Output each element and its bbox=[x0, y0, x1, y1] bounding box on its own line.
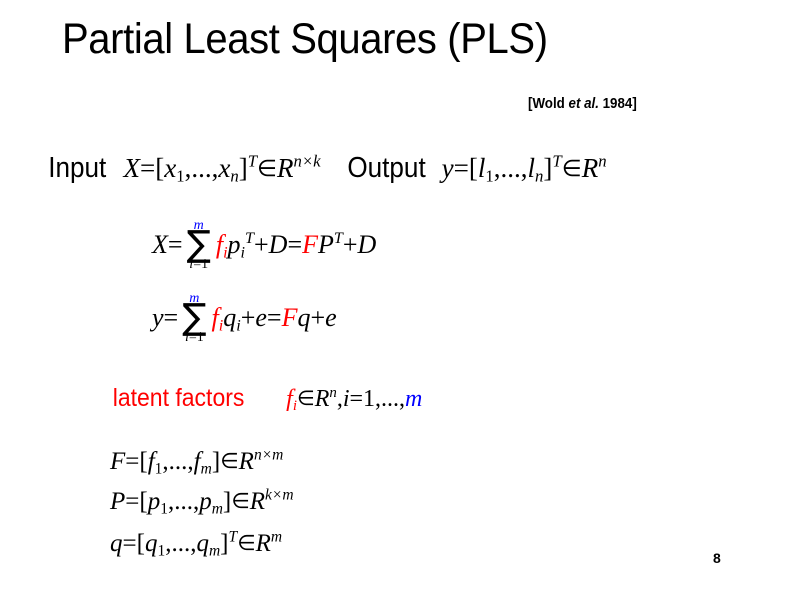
sumy-term-f: f bbox=[211, 303, 218, 332]
output-ellipsis: ..., bbox=[501, 153, 528, 183]
defF-var-1: f bbox=[148, 448, 155, 475]
summation-group: m ∑ i=1 bbox=[187, 219, 211, 272]
sumx-equals-2: = bbox=[287, 230, 302, 259]
defq-var-1: q bbox=[145, 530, 158, 557]
element-of-icon: ∈ bbox=[231, 489, 250, 514]
citation-year: 1984 bbox=[599, 96, 632, 112]
input-ellipsis: ..., bbox=[191, 153, 218, 183]
sumx-term-P-sup: T bbox=[334, 230, 343, 247]
input-transpose: T bbox=[248, 152, 257, 171]
sumy-term-F: F bbox=[282, 303, 298, 332]
input-output-row: Input X=[x1,...,xn]T∈Rn×k Output y=[l1,.… bbox=[45, 152, 607, 185]
latent-factors-row: latent factors fi∈Rn,i=1,...,m bbox=[107, 384, 422, 413]
citation-author: Wold bbox=[532, 96, 568, 112]
defP-space-dims: k×m bbox=[265, 486, 294, 503]
input-space-dims: n×k bbox=[294, 152, 321, 171]
defF-var-m: f bbox=[194, 448, 201, 475]
input-var-n-sub: n bbox=[230, 167, 238, 186]
page-number: 8 bbox=[713, 550, 721, 566]
input-equals: = bbox=[140, 153, 155, 183]
output-equation: y=[l1,...,ln]T∈Rn bbox=[442, 153, 607, 184]
sumy-lower-value: 1 bbox=[197, 330, 204, 345]
slide-canvas: Partial Least Squares (PLS) [Wold et al.… bbox=[0, 0, 800, 599]
defq-var-m: q bbox=[196, 530, 209, 557]
sumx-lower-limit: i=1 bbox=[189, 258, 208, 272]
definition-equation-P: P=[p1,...,pm]∈Rk×m bbox=[110, 488, 294, 516]
output-var-n: l bbox=[528, 153, 536, 183]
input-equation: X=[x1,...,xn]T∈Rn×k bbox=[124, 153, 321, 184]
defq-transpose: T bbox=[228, 528, 237, 545]
latent-factors-label: latent factors bbox=[113, 384, 245, 413]
latent-var: f bbox=[286, 386, 293, 412]
defF-equals: = bbox=[125, 448, 139, 475]
defP-var-1: p bbox=[148, 488, 161, 515]
output-open-bracket: [ bbox=[469, 153, 478, 183]
latent-space-sup: n bbox=[329, 385, 336, 401]
page-title: Partial Least Squares (PLS) bbox=[62, 14, 548, 64]
sumy-term-q: q bbox=[223, 303, 236, 332]
sumx-term-f: f bbox=[216, 230, 223, 259]
sumy-lower-equals: = bbox=[189, 330, 197, 345]
element-of-icon: ∈ bbox=[297, 386, 315, 410]
output-equals: = bbox=[454, 153, 469, 183]
input-open-bracket: [ bbox=[155, 153, 164, 183]
sumy-plus-1: + bbox=[241, 303, 256, 332]
sumy-lower-limit: i=1 bbox=[185, 331, 204, 345]
defF-space-dims: n×m bbox=[254, 446, 283, 463]
input-var-n: x bbox=[218, 153, 230, 183]
output-label: Output bbox=[347, 152, 425, 185]
latent-ellipsis: ..., bbox=[381, 386, 405, 412]
defF-open-bracket: [ bbox=[139, 448, 147, 475]
summation-group: m ∑ i=1 bbox=[182, 292, 206, 345]
output-space: R bbox=[582, 153, 599, 183]
sumy-equals-2: = bbox=[267, 303, 282, 332]
sumx-terms: fipiT+D=FPT+D bbox=[216, 230, 377, 260]
defP-lhs: P bbox=[110, 488, 125, 515]
defF-close-bracket: ] bbox=[212, 448, 220, 475]
defF-lhs: F bbox=[110, 448, 125, 475]
sumx-term-p-sup: T bbox=[245, 230, 254, 247]
citation-et-al: et al. bbox=[569, 96, 599, 112]
output-comma: , bbox=[494, 153, 501, 183]
input-space: R bbox=[277, 153, 294, 183]
defq-lhs: q bbox=[110, 530, 123, 557]
input-var-1-sub: 1 bbox=[176, 167, 184, 186]
output-space-dims: n bbox=[598, 152, 606, 171]
sumx-plus-1: + bbox=[254, 230, 269, 259]
sumx-plus-2: + bbox=[343, 230, 358, 259]
definition-equation-F: F=[f1,...,fm]∈Rn×m bbox=[110, 448, 283, 476]
sumx-term-P: P bbox=[318, 230, 334, 259]
input-lhs: X bbox=[124, 153, 141, 183]
defq-space-dims: m bbox=[271, 528, 282, 545]
sumy-terms: fiqi+e=Fq+e bbox=[211, 303, 336, 333]
input-label: Input bbox=[48, 152, 106, 185]
input-var-1: x bbox=[164, 153, 176, 183]
sumx-lhs: X bbox=[152, 230, 168, 260]
citation-reference: [Wold et al. 1984] bbox=[528, 96, 637, 112]
output-var-1-sub: 1 bbox=[485, 167, 493, 186]
defP-open-bracket: [ bbox=[139, 488, 147, 515]
element-of-icon: ∈ bbox=[220, 449, 239, 474]
latent-equals: = bbox=[350, 386, 364, 412]
defP-space: R bbox=[250, 488, 265, 515]
sumx-lower-value: 1 bbox=[201, 257, 208, 272]
element-of-icon: ∈ bbox=[562, 156, 582, 182]
definition-equation-q: q=[q1,...,qm]T∈Rm bbox=[110, 530, 282, 558]
element-of-icon: ∈ bbox=[237, 531, 256, 556]
input-close-bracket: ] bbox=[239, 153, 248, 183]
sumy-term-q2: q bbox=[297, 303, 310, 332]
output-transpose: T bbox=[552, 152, 561, 171]
latent-factors-equation: fi∈Rn,i=1,...,m bbox=[286, 386, 422, 413]
sumy-lhs: y bbox=[152, 303, 164, 333]
defq-equals: = bbox=[123, 530, 137, 557]
sumx-term-D: D bbox=[269, 230, 288, 259]
latent-limit: m bbox=[405, 386, 422, 412]
citation-close-bracket: ] bbox=[632, 96, 636, 112]
defP-ellipsis: ..., bbox=[174, 488, 199, 515]
sumx-equals-1: = bbox=[168, 230, 183, 260]
sumx-term-p-sub: i bbox=[241, 245, 245, 262]
latent-one: 1, bbox=[363, 386, 381, 412]
defF-space: R bbox=[239, 448, 254, 475]
defP-var-m: p bbox=[199, 488, 212, 515]
defP-var-m-sub: m bbox=[212, 500, 223, 517]
defq-ellipsis: ..., bbox=[171, 530, 196, 557]
defq-var-m-sub: m bbox=[209, 542, 220, 559]
sumy-equals-1: = bbox=[164, 303, 179, 333]
sumy-term-e2: e bbox=[325, 303, 337, 332]
defF-var-m-sub: m bbox=[201, 460, 212, 477]
element-of-icon: ∈ bbox=[257, 156, 277, 182]
defP-equals: = bbox=[125, 488, 139, 515]
defP-var-1-sub: 1 bbox=[160, 500, 168, 517]
latent-index: i bbox=[343, 386, 350, 412]
sumy-term-e: e bbox=[255, 303, 267, 332]
sumx-lower-equals: = bbox=[193, 257, 201, 272]
sumy-plus-2: + bbox=[310, 303, 325, 332]
equation-decomposition-y: y= m ∑ i=1 fiqi+e=Fq+e bbox=[152, 292, 337, 345]
output-lhs: y bbox=[442, 153, 454, 183]
defq-open-bracket: [ bbox=[137, 530, 145, 557]
defq-space: R bbox=[256, 530, 271, 557]
latent-space: R bbox=[315, 386, 330, 412]
sumx-term-p: p bbox=[228, 230, 241, 259]
sumx-term-D2: D bbox=[358, 230, 377, 259]
equation-decomposition-x: X= m ∑ i=1 fipiT+D=FPT+D bbox=[152, 219, 376, 272]
sumx-term-F: F bbox=[302, 230, 318, 259]
defP-close-bracket: ] bbox=[223, 488, 231, 515]
defF-ellipsis: ..., bbox=[169, 448, 194, 475]
